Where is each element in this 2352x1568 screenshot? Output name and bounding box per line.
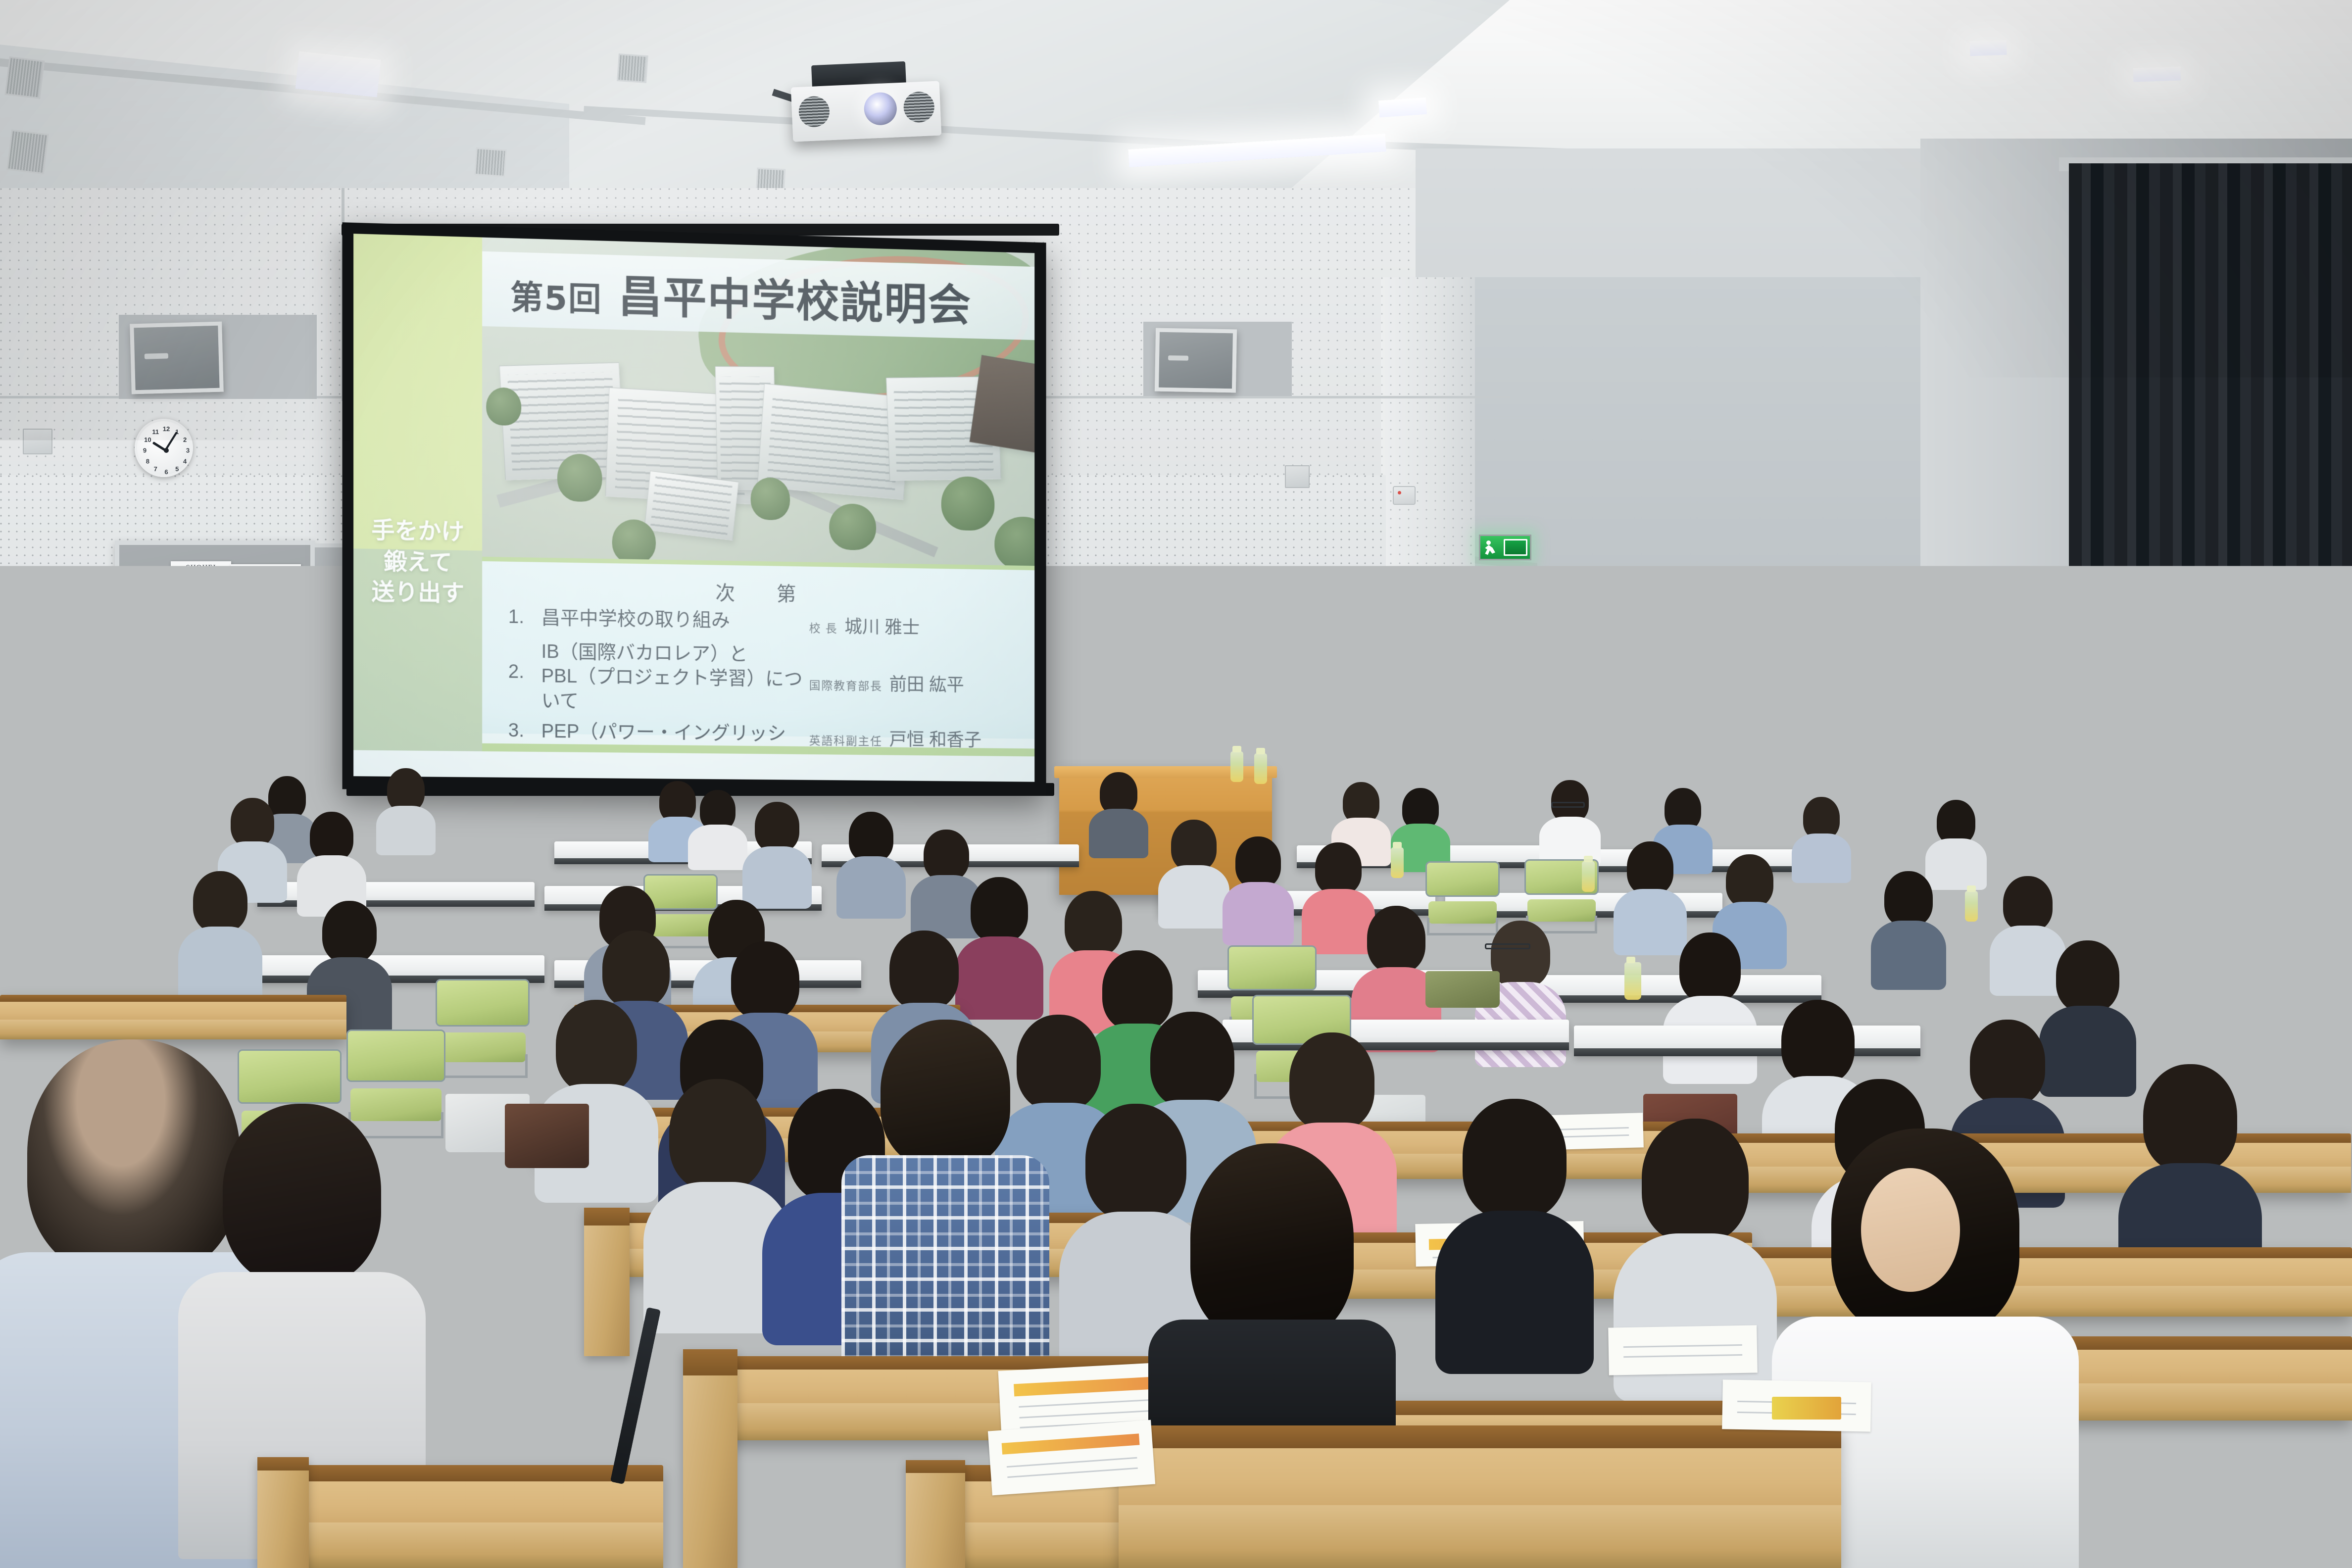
speaker-name: 城川 雅士	[844, 616, 920, 637]
desk-side-panel	[906, 1460, 965, 1568]
slide-title-bar: 第5回 昌平中学校説明会	[482, 251, 1034, 340]
wall-clock: 12 1 2 3 4 5 6 7 8 9 10 11	[135, 419, 193, 477]
water-bottle	[1391, 847, 1404, 878]
presenter-hand	[1212, 717, 1229, 736]
audience-member	[2267, 861, 2351, 985]
desk-side-panel	[257, 1457, 309, 1568]
presenter-mouth	[1195, 702, 1208, 711]
slide-title-prefix: 第5回	[510, 278, 602, 318]
handout	[988, 1420, 1155, 1496]
audience-member	[1871, 871, 1946, 984]
eyeglasses	[1485, 943, 1530, 949]
ceiling-light	[1378, 98, 1427, 118]
agenda-item: 2. IB（国際バカロレア）と PBL（プロジェクト学習）について 国際教育部長…	[508, 639, 1018, 719]
slide-motto: 手をかけ 鍛えて 送り出す	[353, 514, 482, 609]
slide-agenda: 次 第 1. 昌平中学校の取り組み 校 長城川 雅士 2.	[482, 557, 1034, 739]
poster-shohei-junior-high: SHOHEI 昌平中学校	[231, 564, 301, 664]
lecture-desk	[1119, 1425, 1841, 1568]
agenda-item-number: 3.	[508, 719, 541, 742]
handbag	[505, 1104, 589, 1168]
audience-member-plaid	[841, 1020, 1049, 1366]
audience-member	[1435, 1099, 1594, 1366]
ceiling-vent	[5, 56, 45, 99]
poster-school-festival: 10日11日 平	[208, 652, 266, 749]
ceiling-vent	[617, 53, 648, 83]
ceiling-vent	[474, 147, 507, 177]
exit-sign-icon	[1479, 535, 1531, 560]
eyeglasses	[1551, 802, 1585, 808]
audience-member	[376, 768, 436, 852]
agenda-item-speaker: 校 長城川 雅士	[809, 610, 1018, 640]
poster-shohei-junior-high: SHOHEI 昌平中学校	[1077, 577, 1139, 674]
audience-member	[1158, 820, 1229, 927]
slide-sidebar	[353, 234, 482, 777]
water-bottle	[1624, 962, 1641, 1000]
slide-title-main: 昌平中学校説明会	[618, 270, 972, 330]
water-bottle	[1582, 861, 1595, 892]
agenda-item-number: 2.	[508, 639, 541, 683]
wall-speaker	[130, 322, 224, 394]
motto-line-3: 送り出す	[353, 576, 482, 609]
handout	[1608, 1325, 1758, 1375]
audience-member	[1089, 772, 1148, 856]
lecture-desk	[287, 1465, 663, 1568]
wall-speaker	[1155, 328, 1237, 393]
audience-member	[297, 812, 366, 916]
slide-title: 第5回 昌平中学校説明会	[482, 257, 972, 333]
agenda-item-number: 1.	[508, 605, 541, 628]
audience-member	[178, 871, 262, 1000]
water-bottle	[1254, 753, 1267, 784]
agenda-item-topic: IB（国際バカロレア）と PBL（プロジェクト学習）について	[541, 640, 809, 717]
lectern	[49, 756, 208, 870]
sticky-note	[1772, 1397, 1841, 1420]
lecture-desk	[0, 995, 346, 1039]
water-bottle	[1230, 751, 1243, 782]
motto-line-2: 鍛えて	[353, 545, 482, 579]
agenda-item-topic: 昌平中学校の取り組み	[541, 606, 809, 634]
light-switch-panel[interactable]	[36, 679, 95, 700]
wall-plate	[1285, 465, 1310, 488]
speaker-role: 英語科副主任	[809, 734, 882, 747]
speaker-name: 前田 紘平	[889, 674, 964, 695]
bag	[1425, 971, 1500, 1008]
presenter-hair	[1172, 655, 1229, 692]
ceiling-light	[2133, 66, 2181, 82]
audience-member	[1539, 780, 1601, 864]
presenter-eye-right	[1202, 685, 1209, 687]
presenter-eye-left	[1183, 685, 1190, 687]
attendee-hand	[1861, 1168, 1960, 1292]
water-bottle	[1965, 891, 1978, 922]
ceiling-vent	[6, 130, 49, 175]
audience-member	[688, 790, 747, 864]
audience-member	[742, 802, 812, 908]
presentation-slide: 手をかけ 鍛えて 送り出す	[353, 234, 1034, 782]
smoke-detector-icon	[1393, 486, 1416, 505]
chair[interactable]	[436, 979, 530, 1078]
agenda-item-speaker: 国際教育部長前田 紘平	[809, 643, 1018, 697]
audience-member	[2094, 812, 2156, 901]
agenda-heading: 次 第	[482, 561, 1034, 613]
lecture-hall-scene: 12 1 2 3 4 5 6 7 8 9 10 11 SHOHEI 2017 昌…	[0, 0, 2352, 1568]
piano-sheen	[1460, 718, 1549, 727]
ceiling-projector-icon	[791, 81, 942, 142]
desk-side-panel	[584, 1208, 630, 1356]
spacer	[658, 778, 663, 783]
poster-shohei-high-school: SHOHEI 2017 昌平高等学校	[171, 561, 231, 666]
audience-member	[1223, 836, 1294, 943]
wall-plate	[23, 429, 52, 454]
speaker-role: 校 長	[809, 622, 838, 635]
audience-member	[1792, 797, 1851, 881]
speaker-role: 国際教育部長	[809, 679, 882, 693]
projection-screen: 手をかけ 鍛えて 送り出す	[343, 222, 1046, 794]
ceiling-light	[1969, 40, 2007, 56]
plastic-bag	[683, 1406, 787, 1495]
motto-line-1: 手をかけ	[353, 514, 482, 547]
audience-member	[836, 812, 906, 918]
